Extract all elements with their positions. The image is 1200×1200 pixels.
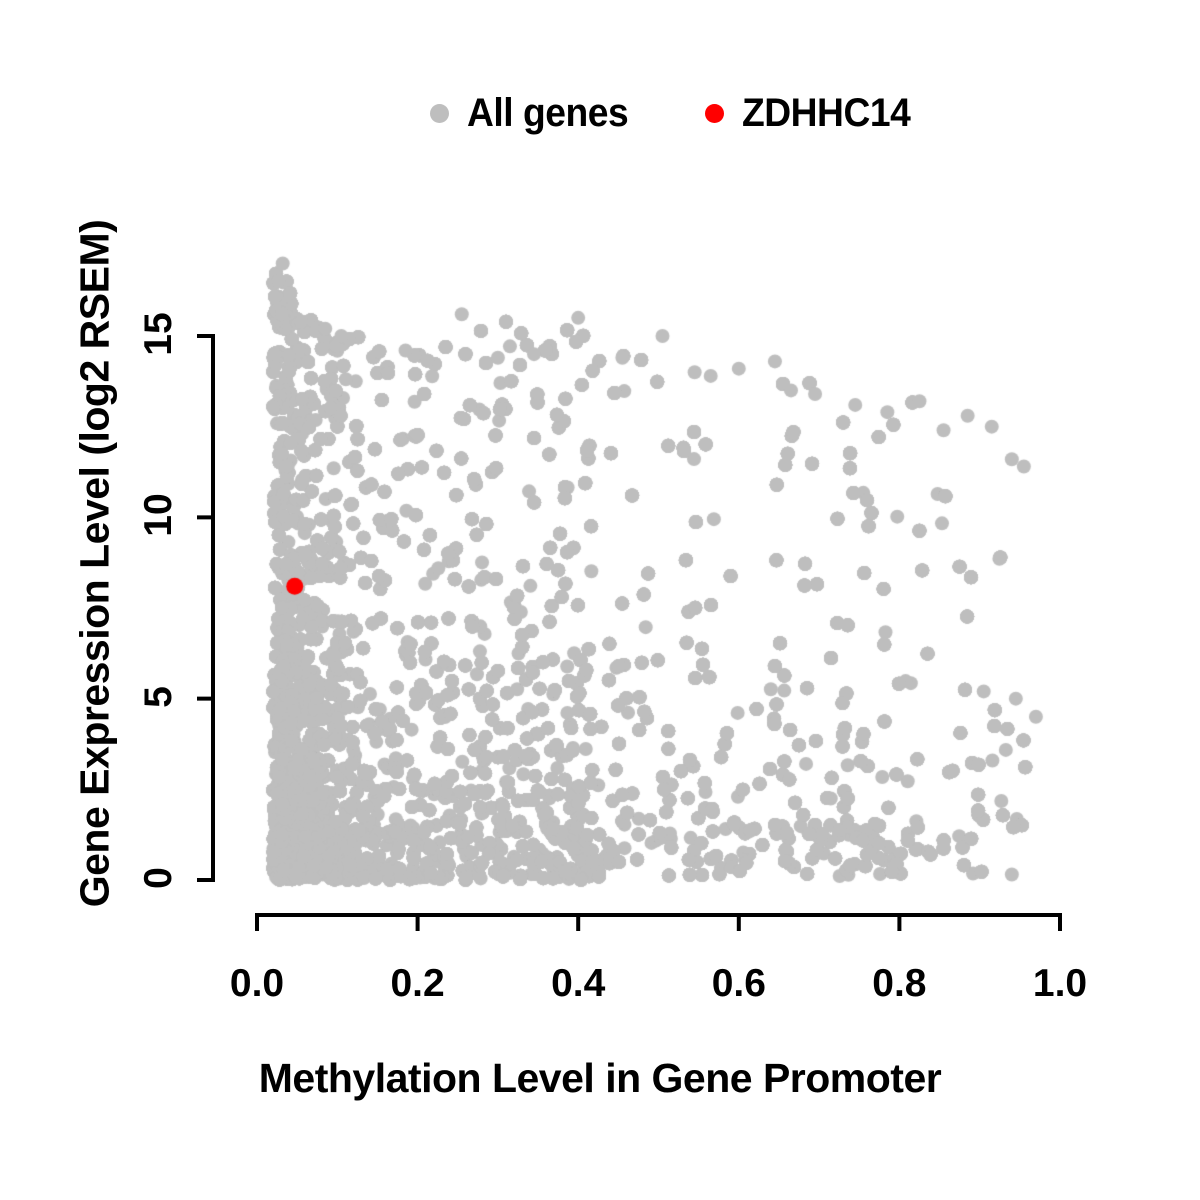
y-axis-title: Gene Expression Level (log2 RSEM) <box>72 220 118 908</box>
y-tick-label: 5 <box>137 673 181 721</box>
x-tick-label: 0.2 <box>390 962 444 1006</box>
y-tick-label: 0 <box>137 854 181 902</box>
legend-label-all-genes: All genes <box>467 91 628 136</box>
y-tick-label: 15 <box>137 310 181 358</box>
x-tick-label: 1.0 <box>1033 962 1087 1006</box>
legend-marker-icon-all-genes <box>430 104 449 123</box>
legend: All genes ZDHHC14 <box>430 78 1050 148</box>
x-tick-label: 0.0 <box>230 962 284 1006</box>
plot-axes <box>0 0 1200 1200</box>
legend-label-zdhhc14: ZDHHC14 <box>742 91 910 136</box>
legend-marker-icon-zdhhc14 <box>705 104 724 123</box>
y-tick-label: 10 <box>137 491 181 539</box>
y-axis-title-wrapper: Gene Expression Level (log2 RSEM) <box>72 114 119 1014</box>
x-tick-label: 0.8 <box>872 962 926 1006</box>
x-tick-label: 0.6 <box>712 962 766 1006</box>
scatter-plot-figure: 0.00.20.40.60.81.0 051015 All genes ZDHH… <box>0 0 1200 1200</box>
x-axis-title: Methylation Level in Gene Promoter <box>0 1055 1200 1102</box>
legend-item-zdhhc14: ZDHHC14 <box>705 78 923 148</box>
x-tick-label: 0.4 <box>551 962 605 1006</box>
legend-item-all-genes: All genes <box>430 78 640 148</box>
